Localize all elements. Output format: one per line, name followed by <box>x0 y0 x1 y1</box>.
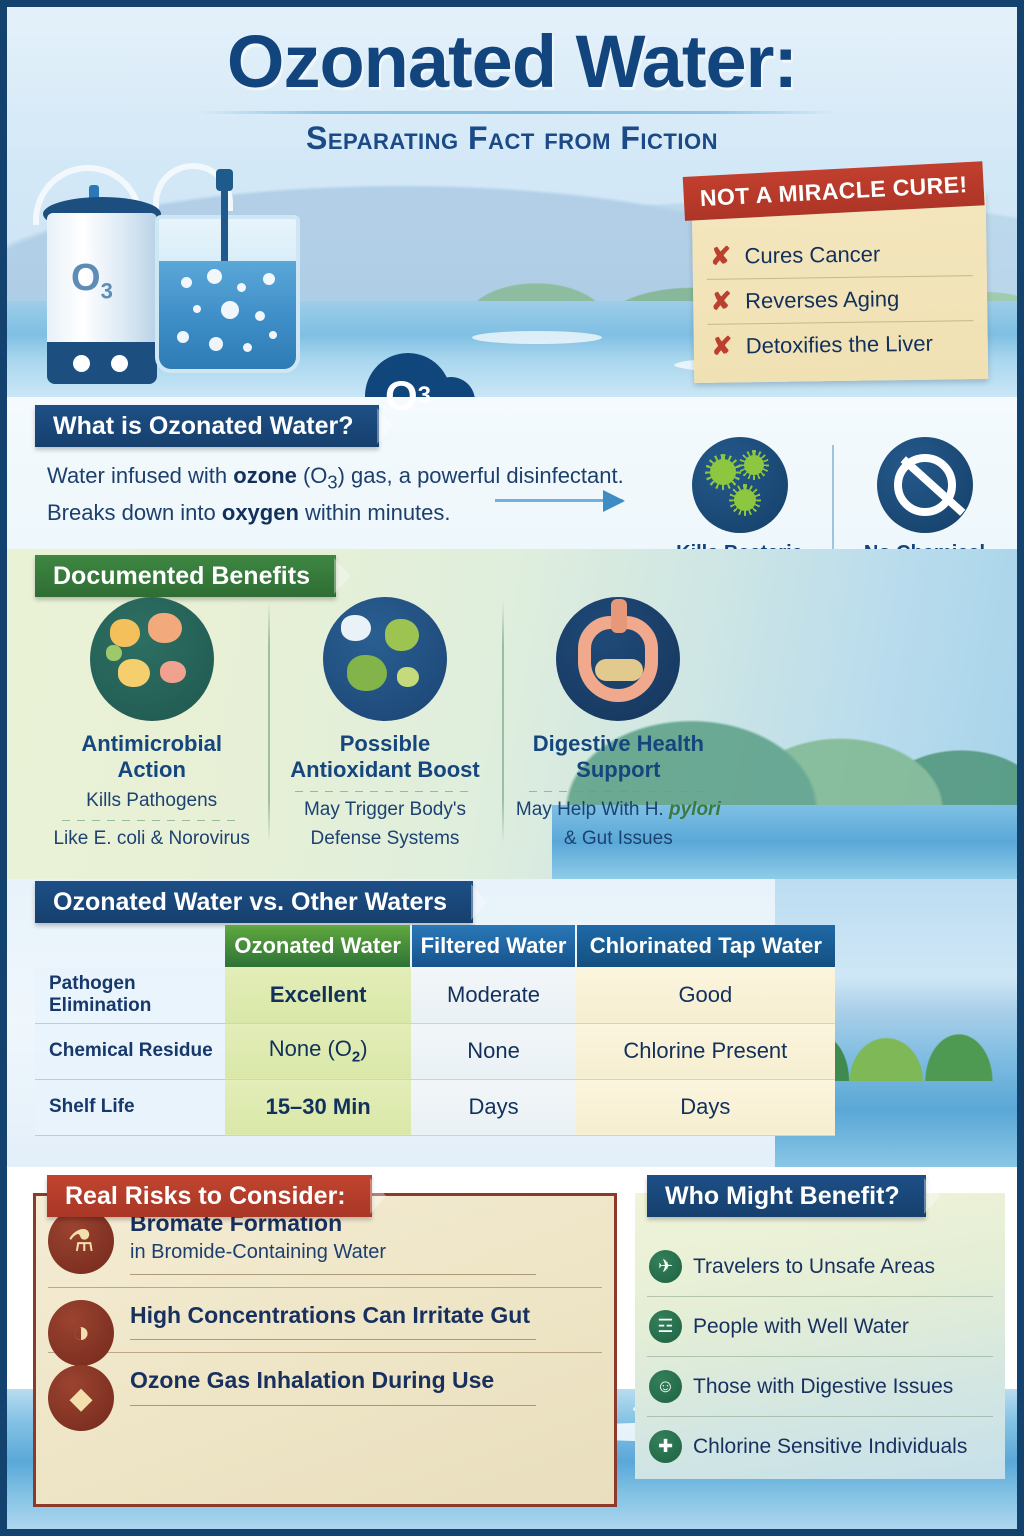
comparison-table: Ozonated Water Filtered Water Chlorinate… <box>35 925 835 1136</box>
mask-icon: ◆ <box>48 1365 114 1431</box>
no-chemical-icon <box>877 437 973 533</box>
digestive-system-icon <box>556 597 680 721</box>
risk-title: Ozone Gas Inhalation During Use <box>130 1367 602 1395</box>
who-label: People with Well Water <box>693 1315 909 1339</box>
table-header-row: Ozonated Water Filtered Water Chlorinate… <box>35 925 835 967</box>
benefit-sub2: & Gut Issues <box>512 826 725 851</box>
title-divider <box>197 111 837 114</box>
myth-label: Detoxifies the Liver <box>746 331 933 360</box>
generator-o3-label: O3 <box>71 257 113 305</box>
table-cell-filtered: Days <box>411 1079 575 1135</box>
who-label: Those with Digestive Issues <box>693 1375 953 1399</box>
desc-line1-a: Water infused with <box>47 463 233 488</box>
who-benefits-panel: ✈ Travelers to Unsafe Areas ☲ People wit… <box>635 1193 1005 1479</box>
benefits-banner: Documented Benefits <box>35 555 336 597</box>
water-glass-icon <box>155 215 300 373</box>
benefit-sub1: May Trigger Body's <box>278 797 491 822</box>
who-item: ☺ Those with Digestive Issues <box>647 1357 993 1417</box>
cell-subscript: 2 <box>352 1049 360 1066</box>
desc-oxygen-bold: oxygen <box>222 500 299 525</box>
benefit-sub2: Defense Systems <box>278 826 491 851</box>
glass-water <box>159 261 296 369</box>
table-cell-chlorinated: Good <box>576 967 835 1023</box>
myth-label: Reverses Aging <box>745 286 899 314</box>
myth-label: Cures Cancer <box>744 241 880 269</box>
comparison-banner: Ozonated Water vs. Other Waters <box>35 881 473 923</box>
molecule-o-letter: O <box>385 372 418 420</box>
desc-line2-c: within minutes. <box>299 500 451 525</box>
table-cell-filtered: None <box>411 1023 575 1079</box>
benefit-sub1: May Help With H. pylori <box>512 797 725 822</box>
risks-panel: ⚗ Bromate Formation in Bromide-Containin… <box>33 1193 617 1507</box>
table-row: Pathogen Elimination Excellent Moderate … <box>35 967 835 1023</box>
desc-line1-d: ) gas, a powerful disinfectant. <box>338 463 624 488</box>
page-subtitle: Separating Fact from Fiction <box>7 120 1017 157</box>
benefit-item-antioxidant: Possible Antioxidant Boost May Trigger B… <box>268 597 501 851</box>
what-is-description: Water infused with ozone (O3) gas, a pow… <box>47 459 667 530</box>
generator-button-2 <box>111 355 128 372</box>
table-header-ozonated: Ozonated Water <box>225 925 411 967</box>
probe-rod <box>221 179 228 265</box>
risk-subtitle: in Bromide-Containing Water <box>130 1241 602 1264</box>
desc-o3-sub: 3 <box>327 471 337 492</box>
flow-arrow-icon <box>495 499 623 502</box>
o-subscript: 3 <box>101 279 113 304</box>
table-cell-ozonated: 15–30 Min <box>225 1079 411 1135</box>
risk-item-inhalation: ◆ Ozone Gas Inhalation During Use <box>36 1353 614 1418</box>
x-icon: ✘ <box>709 289 733 314</box>
who-item: ✚ Chlorine Sensitive Individuals <box>647 1417 993 1476</box>
page-title: Ozonated Water: <box>7 19 1017 104</box>
benefit-divider <box>295 791 474 792</box>
benefits-columns: Antimicrobial Action Kills Pathogens Lik… <box>35 597 735 851</box>
benefit-sub1-text: May Help With H. <box>516 799 664 820</box>
mask-glyph: ◆ <box>69 1381 92 1416</box>
cell-tail: ) <box>360 1036 367 1061</box>
x-icon: ✘ <box>708 244 732 269</box>
benefit-title: Digestive Health Support <box>512 731 725 784</box>
myth-row: ✘ Detoxifies the Liver <box>708 321 975 369</box>
generator-button-1 <box>73 355 90 372</box>
risk-underline <box>130 1339 536 1340</box>
risk-underline <box>130 1274 536 1275</box>
ozone-generator-illustration: O3 O3 <box>25 157 345 397</box>
myth-row: ✘ Cures Cancer <box>706 231 973 280</box>
o-letter: O <box>71 257 101 299</box>
table-header-chlorinated: Chlorinated Tap Water <box>576 925 835 967</box>
who-item: ☲ People with Well Water <box>647 1297 993 1357</box>
what-is-banner: What is Ozonated Water? <box>35 405 379 447</box>
benefit-item-digestive: Digestive Health Support May Help With H… <box>502 597 735 851</box>
desc-ozone-bold: ozone <box>233 463 297 488</box>
table-row: Chemical Residue None (O2) None Chlorine… <box>35 1023 835 1079</box>
cell-text: None (O <box>269 1036 352 1061</box>
flask-glyph: ⚗ <box>68 1224 95 1259</box>
benefit-divider <box>529 791 708 792</box>
not-a-miracle-cure-card: NOT A MIRACLE CURE! ✘ Cures Cancer ✘ Rev… <box>692 191 989 383</box>
who-label: Chlorine Sensitive Individuals <box>693 1435 967 1459</box>
table-row-label: Pathogen Elimination <box>35 967 225 1023</box>
benefit-sub2: Like E. coli & Norovirus <box>45 826 258 851</box>
digestive-icon: ☺ <box>649 1370 682 1403</box>
benefit-title: Antimicrobial Action <box>45 731 258 784</box>
desc-line1-c: (O <box>297 463 328 488</box>
table-cell-ozonated: Excellent <box>225 967 411 1023</box>
table-corner-cell <box>35 925 225 967</box>
desc-line2-a: Breaks down into <box>47 500 222 525</box>
microbes-icon <box>90 597 214 721</box>
risk-item-irritation: ◑ High Concentrations Can Irritate Gut <box>36 1288 614 1353</box>
benefit-title: Possible Antioxidant Boost <box>278 731 491 784</box>
table-row-label: Chemical Residue <box>35 1023 225 1079</box>
table-cell-chlorinated: Chlorine Present <box>576 1023 835 1079</box>
table-cell-chlorinated: Days <box>576 1079 835 1135</box>
benefit-sub1: Kills Pathogens <box>45 788 258 813</box>
who-item: ✈ Travelers to Unsafe Areas <box>647 1237 993 1297</box>
well-water-icon: ☲ <box>649 1310 682 1343</box>
myth-row: ✘ Reverses Aging <box>707 276 974 325</box>
benefit-sub1-emphasis: pylori <box>669 799 721 820</box>
generator-base <box>47 342 157 384</box>
benefit-divider <box>62 820 241 821</box>
plus-icon: ✚ <box>649 1430 682 1463</box>
stomach-glyph: ◑ <box>72 1316 90 1350</box>
flask-icon: ⚗ <box>48 1208 114 1274</box>
antioxidant-cells-icon <box>323 597 447 721</box>
risk-underline <box>130 1405 536 1406</box>
risks-banner: Real Risks to Consider: <box>47 1175 372 1217</box>
who-label: Travelers to Unsafe Areas <box>693 1255 935 1279</box>
molecule-subscript: 3 <box>418 382 431 410</box>
benefit-item-antimicrobial: Antimicrobial Action Kills Pathogens Lik… <box>35 597 268 851</box>
table-header-filtered: Filtered Water <box>411 925 575 967</box>
risk-title: High Concentrations Can Irritate Gut <box>130 1302 602 1330</box>
airplane-icon: ✈ <box>649 1250 682 1283</box>
table-cell-ozonated: None (O2) <box>225 1023 411 1079</box>
x-icon: ✘ <box>710 334 734 359</box>
table-cell-filtered: Moderate <box>411 967 575 1023</box>
who-benefits-banner: Who Might Benefit? <box>647 1175 926 1217</box>
table-row-label: Shelf Life <box>35 1079 225 1135</box>
table-row: Shelf Life 15–30 Min Days Days <box>35 1079 835 1135</box>
infographic-poster: Ozonated Water: Separating Fact from Fic… <box>0 0 1024 1536</box>
bacteria-icon <box>692 437 788 533</box>
